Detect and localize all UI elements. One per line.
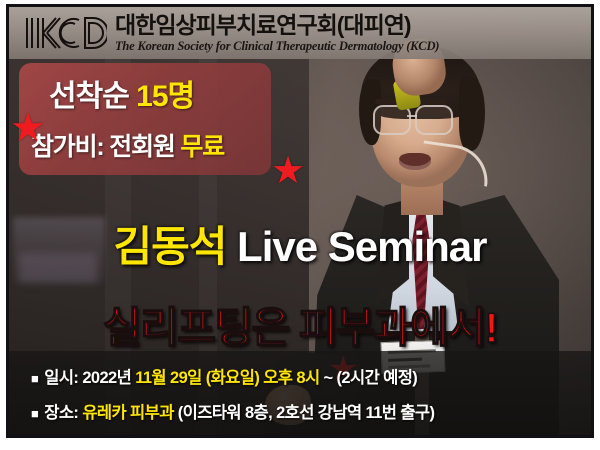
place-line: ■장소: 유레카 피부과 (이즈타워 8층, 2호선 강남역 11번 출구) <box>31 399 591 423</box>
speaker-name: 김동석 <box>113 223 226 270</box>
bullet-icon: ■ <box>31 406 38 421</box>
capacity-value: 15명 <box>136 80 194 113</box>
place-suffix: (이즈타워 8층, 2호선 강남역 11번 출구) <box>174 404 435 422</box>
date-suffix: ~ (2시간 예정) <box>320 369 418 387</box>
poster-frame: 대한임상피부치료연구회(대피연) The Korean Society for … <box>6 4 594 438</box>
poster: 대한임상피부치료연구회(대피연) The Korean Society for … <box>0 0 600 450</box>
star-icon: ★ <box>271 152 305 190</box>
date-value: 11월 29일 (화요일) 오후 8시 <box>135 369 319 387</box>
glasses-bridge <box>407 115 417 117</box>
kcd-logo-icon <box>23 14 107 52</box>
fee-label: 참가비: 전회원 <box>31 133 180 161</box>
capacity-label: 선착순 <box>49 80 136 113</box>
organization-name-english: The Korean Society for Clinical Therapeu… <box>115 40 439 53</box>
eyebrow <box>417 99 447 104</box>
organization-name-korean: 대한임상피부치료연구회(대피연) <box>115 14 439 37</box>
date-prefix: 2022년 <box>82 369 135 387</box>
capacity-line: 선착순 15명 <box>49 71 263 115</box>
fee-line: 참가비: 전회원 무료 <box>31 127 263 163</box>
seminar-title: 김동석 Live Seminar <box>9 213 591 274</box>
header-band: 대한임상피부치료연구회(대피연) The Korean Society for … <box>9 7 591 59</box>
glasses-icon <box>415 105 453 135</box>
seminar-title-en: Live Seminar <box>226 223 486 270</box>
notice-box: 선착순 15명 참가비: 전회원 무료 <box>19 63 271 175</box>
headline: 실리프팅은 피부과에서! <box>9 294 591 355</box>
fee-value: 무료 <box>180 133 224 161</box>
date-line: ■일시: 2022년 11월 29일 (화요일) 오후 8시 ~ (2시간 예정… <box>31 364 591 388</box>
hair <box>459 77 485 151</box>
place-value: 유레카 피부과 <box>82 404 173 422</box>
place-label: 장소: <box>44 404 82 422</box>
date-label: 일시: <box>44 369 82 387</box>
header-text: 대한임상피부치료연구회(대피연) The Korean Society for … <box>115 14 439 53</box>
bullet-icon: ■ <box>31 371 38 386</box>
info-bar: ■일시: 2022년 11월 29일 (화요일) 오후 8시 ~ (2시간 예정… <box>9 351 591 435</box>
star-icon: ★ <box>10 108 46 148</box>
